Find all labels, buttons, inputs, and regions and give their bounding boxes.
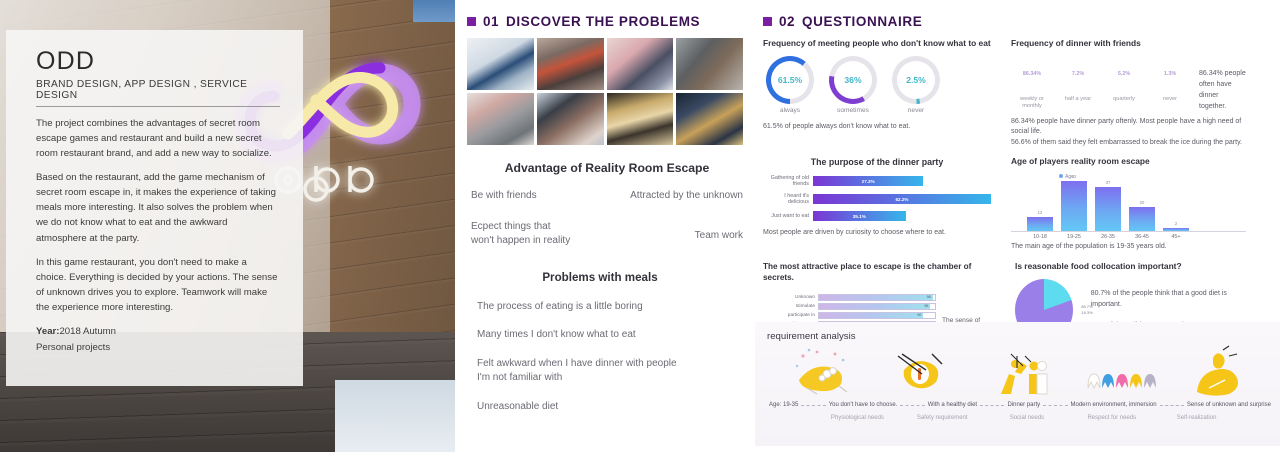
donut-weekly-monthly: 86.34% weekly or monthly (1011, 56, 1053, 111)
problems-heading: Problems with meals (467, 271, 747, 284)
section-2-header: 02 QUESTIONNAIRE (763, 14, 1274, 29)
chart-note: The main age of the population is 19-35 … (1011, 242, 1246, 253)
tick-label: 19-25 (1061, 234, 1087, 240)
requirement-analysis-panel: requirement analysis (755, 322, 1280, 446)
square-bullet-icon (763, 17, 772, 26)
hero-paragraph-1: The project combines the advantages of s… (36, 116, 278, 161)
portfolio-page: ODD BRAND DESIGN, APP DESIGN , SERVICE D… (0, 0, 1280, 452)
thumbnail-image (607, 93, 674, 145)
year-label: Year: (36, 326, 59, 337)
section-2-number: 02 (779, 14, 795, 29)
thumbnail-image (467, 93, 534, 145)
requirement-title: requirement analysis (767, 331, 1273, 342)
hero-paragraph-2: Based on the restaurant, add the game me… (36, 170, 278, 246)
advantage-heading: Advantage of Reality Room Escape (467, 161, 747, 175)
chart-side-note: 86.34% people often have dinner together… (1199, 56, 1246, 113)
photo-thumbnail-grid (467, 38, 743, 145)
tick-label: 26-35 (1095, 234, 1121, 240)
stage-label: Dinner party (1007, 402, 1040, 408)
donut-ring: 7.2% (1060, 56, 1097, 93)
donut-ring: 5.2% (1106, 56, 1143, 93)
advantage-item: Ecpect things that won't happen in reali… (471, 220, 570, 249)
chart-title: Is reasonable food collocation important… (1015, 261, 1250, 273)
dashed-connector (900, 405, 924, 406)
hero-meta: Year:2018 Autumn Personal projects (36, 325, 281, 355)
thumbnail-image (537, 93, 604, 145)
thumbnail-image (467, 38, 534, 90)
bar-value: 37 (1095, 180, 1121, 185)
vertical-bars: 12 42 37 20 2 (1011, 180, 1246, 232)
bar-column: 12 (1027, 217, 1053, 231)
donut-value: 1.3% (1164, 71, 1176, 77)
donut-sometimes: 36% sometimes (826, 56, 880, 114)
charts-row-1: Frequency of meeting people who don't kn… (763, 38, 1274, 148)
chart-frequency-dinner-friends: Frequency of dinner with friends 86.34% … (1011, 38, 1246, 148)
bar-track: 90 (818, 312, 936, 319)
hero-panel: ODD BRAND DESIGN, APP DESIGN , SERVICE D… (0, 0, 455, 452)
brand-title: ODD (36, 48, 281, 76)
brand-subtitle: BRAND DESIGN, APP DESIGN , SERVICE DESIG… (36, 79, 280, 107)
sky-patch-bottom (335, 380, 455, 452)
advantage-item: Team work (695, 229, 743, 249)
bar-fill: 35.1% (813, 211, 906, 221)
age-label: Age: 19-35 (769, 402, 798, 408)
bar-track: 27.3% (813, 176, 991, 186)
bar-column: 2 (1163, 228, 1189, 231)
dashed-connector (980, 405, 1004, 406)
bar-column: 42 (1061, 181, 1087, 231)
bar-fill: 98 (819, 295, 933, 300)
bar-row: Just want to eat 35.1% (763, 211, 991, 221)
bar-row: stimulate96 (763, 303, 936, 310)
bar-value: 12 (1027, 210, 1053, 215)
self-realization-icon (1179, 344, 1257, 398)
bar-fill: 96 (819, 304, 930, 309)
bar-row: Gathering of old friends 27.3% (763, 175, 991, 188)
chart-note: 80.7% of the people think that a good di… (1091, 288, 1250, 310)
hero-paragraph-3: In this game restaurant, you don't need … (36, 255, 278, 316)
requirement-stage-line: Age: 19-35 You don't have to choose. Wit… (767, 402, 1273, 408)
tick-label: 36-45 (1129, 234, 1155, 240)
chart-note: 61.5% of people always don't know what t… (763, 122, 991, 133)
donut-ring: 1.3% (1152, 56, 1189, 93)
bar-value: 98 (927, 295, 931, 299)
stage-label: Modern environment, immersion (1071, 402, 1157, 408)
donut-group-small: 86.34% weekly or monthly 7.2% half a yea… (1011, 56, 1191, 111)
bar-value: 27.3% (862, 179, 875, 184)
donut-ring: 2.5% (892, 56, 940, 104)
donut-value: 7.2% (1072, 71, 1084, 77)
advantage-row-1: Be with friends Attracted by the unknown (467, 189, 747, 204)
section-1-header: 01 DISCOVER THE PROBLEMS (467, 14, 747, 29)
bar-label: Unknown (763, 295, 815, 300)
donut-label: always (763, 107, 817, 114)
charts-row-2: The purpose of the dinner party Gatherin… (763, 156, 1274, 252)
chart-purpose-dinner-party: The purpose of the dinner party Gatherin… (763, 156, 991, 252)
need-label: Social needs (985, 415, 1070, 421)
bar-fill: 12 (1027, 217, 1053, 231)
donut-never: 2.5% never (889, 56, 943, 114)
bar-column: 37 (1095, 187, 1121, 231)
need-label: Respect for needs (1069, 415, 1154, 421)
bar-label: Gathering of old friends (763, 175, 809, 188)
bar-label: Just want to eat (763, 213, 809, 220)
donut-value: 5.2% (1118, 71, 1130, 77)
need-label: Safety requirement (900, 415, 985, 421)
bar-label: participate in (763, 313, 815, 318)
bar-fill: 2 (1163, 228, 1189, 231)
thumbnail-image (607, 38, 674, 90)
section-2-title: QUESTIONNAIRE (802, 14, 922, 29)
bar-value: 20 (1129, 200, 1155, 205)
donut-half-year: 7.2% half a year (1057, 56, 1099, 103)
bar-row: participate in90 (763, 312, 936, 319)
bar-fill: 42 (1061, 181, 1087, 231)
horizontal-bars: Gathering of old friends 27.3% I heard i… (763, 175, 991, 221)
square-bullet-icon (467, 17, 476, 26)
donut-never: 1.3% never (1149, 56, 1191, 103)
bar-label: I heard it's delicious (763, 193, 809, 206)
chart-title: Frequency of meeting people who don't kn… (763, 38, 991, 50)
chart-note: 86.34% people have dinner party oftenly.… (1011, 117, 1246, 149)
bar-value: 90 (917, 313, 921, 317)
donut-ring: 36% (829, 56, 877, 104)
tick-label: 10-18 (1027, 234, 1053, 240)
need-label: Self-realization (1154, 415, 1239, 421)
donut-value: 61.5% (778, 75, 802, 85)
stage-label: Sense of unknown and surprise (1187, 402, 1271, 408)
chart-age-players: Age of players reality room escape Age 1… (1011, 156, 1246, 252)
bar-track: 96 (818, 303, 936, 310)
hero-text-card: ODD BRAND DESIGN, APP DESIGN , SERVICE D… (6, 30, 303, 386)
donut-value: 86.34% (1023, 71, 1041, 77)
donut-label: never (889, 107, 943, 114)
dashed-connector (1160, 405, 1184, 406)
advantage-row-2: Ecpect things that won't happen in reali… (467, 220, 747, 249)
bar-label: stimulate (763, 304, 815, 309)
people-group-icon (1080, 344, 1158, 398)
project-type: Personal projects (36, 341, 281, 355)
dashed-connector (801, 405, 825, 406)
section-1-number: 01 (483, 14, 499, 29)
chart-frequency-meeting-people: Frequency of meeting people who don't kn… (763, 38, 991, 148)
donut-always: 61.5% always (763, 56, 817, 114)
discover-problems-column: 01 DISCOVER THE PROBLEMS Advantage of Re… (455, 0, 755, 452)
chart-title: The purpose of the dinner party (763, 156, 991, 168)
healthy-diet-icon (882, 344, 960, 398)
sky-patch-top (413, 0, 455, 22)
bar-row: Unknown98 (763, 294, 936, 301)
bar-fill: 62.2% (813, 194, 991, 204)
bar-fill: 90 (819, 313, 923, 318)
problem-item: The process of eating is a little boring (467, 300, 747, 315)
chart-title: Age of players reality room escape (1011, 156, 1246, 168)
bar-value: 62.2% (895, 197, 908, 202)
thumbnail-image (676, 38, 743, 90)
bar-track: 98 (818, 294, 936, 301)
donut-value: 2.5% (906, 75, 926, 85)
chart-title: The most attractive place to escape is t… (763, 261, 995, 284)
thumbnail-image (676, 93, 743, 145)
requirement-needs-row: Physiological needs Safety requirement S… (767, 415, 1273, 421)
bar-value: 96 (924, 304, 928, 308)
problem-item: Felt awkward when I have dinner with peo… (467, 357, 747, 386)
questionnaire-column: 02 QUESTIONNAIRE Frequency of meeting pe… (755, 0, 1280, 452)
donut-ring: 86.34% (1014, 56, 1051, 93)
dashed-connector (1043, 405, 1067, 406)
bar-fill: 37 (1095, 187, 1121, 231)
donut-ring: 61.5% (766, 56, 814, 104)
bar-value: 35.1% (853, 214, 866, 219)
donut-group: 61.5% always 36% sometimes (763, 56, 991, 114)
tick-label: 45+ (1163, 234, 1189, 240)
advantage-item: Attracted by the unknown (630, 189, 743, 204)
donut-label: weekly or monthly (1011, 96, 1053, 111)
requirement-icons (773, 344, 1267, 398)
need-label: Physiological needs (815, 415, 900, 421)
chart-note: Most people are driven by curiosity to c… (763, 228, 991, 239)
stage-label: With a healthy diet (928, 402, 977, 408)
bar-row: I heard it's delicious 62.2% (763, 193, 991, 206)
thumbnail-image (537, 38, 604, 90)
donut-label: quarterly (1103, 96, 1145, 103)
axis-tick-labels: 10-18 19-25 26-35 36-45 45+ (1011, 234, 1246, 240)
advantage-item: Be with friends (471, 189, 537, 204)
section-1-title: DISCOVER THE PROBLEMS (506, 14, 700, 29)
bar-value: 2 (1163, 221, 1189, 226)
donut-quarterly: 5.2% quarterly (1103, 56, 1145, 103)
year-value: 2018 Autumn (59, 326, 116, 337)
donut-label: half a year (1057, 96, 1099, 103)
bar-column: 20 (1129, 207, 1155, 231)
chart-title: Frequency of dinner with friends (1011, 38, 1246, 50)
problem-item: Many times I don't know what to eat (467, 328, 747, 343)
dinner-party-icon (981, 344, 1059, 398)
stage-label: You don't have to choose. (829, 402, 898, 408)
confetti-person-icon (783, 344, 861, 398)
bar-value: 42 (1061, 174, 1087, 179)
bar-fill: 20 (1129, 207, 1155, 231)
problem-item: Unreasonable diet (467, 400, 747, 415)
bar-track: 62.2% (813, 194, 991, 204)
donut-label: sometimes (826, 107, 880, 114)
bar-fill: 27.3% (813, 176, 923, 186)
donut-value: 36% (844, 75, 861, 85)
donut-label: never (1149, 96, 1191, 103)
bar-track: 35.1% (813, 211, 991, 221)
